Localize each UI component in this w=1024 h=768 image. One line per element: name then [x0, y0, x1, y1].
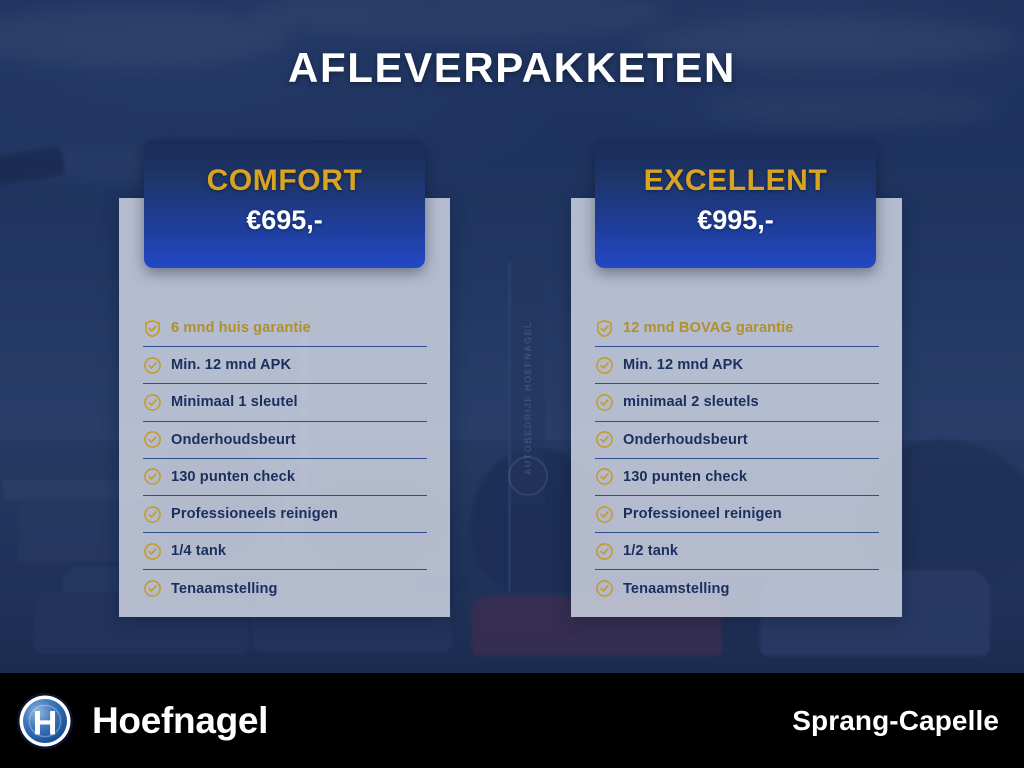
circle-check-icon: [595, 393, 614, 412]
footer-bar: H Hoefnagel Sprang-Capelle: [0, 673, 1024, 768]
brand-lockup: H Hoefnagel: [16, 692, 268, 750]
circle-check-icon: [143, 579, 162, 598]
feature-label: 1/4 tank: [171, 543, 226, 559]
feature-label: Onderhoudsbeurt: [623, 432, 748, 448]
circle-check-icon: [595, 505, 614, 524]
feature-row: 12 mnd BOVAG garantie: [595, 310, 879, 347]
package-header-excellent: EXCELLENT €995,-: [595, 140, 876, 268]
feature-row: Professioneel reinigen: [595, 496, 879, 533]
feature-label: Tenaamstelling: [171, 581, 278, 597]
feature-list-excellent: 12 mnd BOVAG garantie Min. 12 mnd APK mi…: [595, 310, 879, 608]
circle-check-icon: [143, 356, 162, 375]
feature-row: Professioneels reinigen: [143, 496, 427, 533]
circle-check-icon: [143, 542, 162, 561]
feature-label: 130 punten check: [623, 469, 747, 485]
feature-row: Onderhoudsbeurt: [143, 422, 427, 459]
circle-check-icon: [143, 505, 162, 524]
feature-label: minimaal 2 sleutels: [623, 394, 759, 410]
slide-root: AUTOBEDRIJF HOEFNAGEL AUTOBEDRIJF HOEFNA…: [0, 0, 1024, 768]
circle-check-icon: [595, 430, 614, 449]
feature-row: Minimaal 1 sleutel: [143, 384, 427, 421]
feature-row: 130 punten check: [595, 459, 879, 496]
feature-row: minimaal 2 sleutels: [595, 384, 879, 421]
circle-check-icon: [595, 467, 614, 486]
feature-list-comfort: 6 mnd huis garantie Min. 12 mnd APK Mini…: [143, 310, 427, 608]
circle-check-icon: [595, 542, 614, 561]
feature-label: 12 mnd BOVAG garantie: [623, 320, 794, 336]
feature-row: Min. 12 mnd APK: [143, 347, 427, 384]
shield-check-icon: [143, 319, 162, 338]
package-name: COMFORT: [144, 164, 425, 198]
logo-letter: H: [33, 704, 58, 742]
location-label: Sprang-Capelle: [792, 705, 999, 737]
feature-row: 6 mnd huis garantie: [143, 310, 427, 347]
package-price: €995,-: [595, 205, 876, 236]
feature-label: Professioneel reinigen: [623, 506, 782, 522]
feature-label: Tenaamstelling: [623, 581, 730, 597]
feature-row: 130 punten check: [143, 459, 427, 496]
feature-label: Min. 12 mnd APK: [623, 357, 743, 373]
package-header-comfort: COMFORT €695,-: [144, 140, 425, 268]
circle-check-icon: [143, 430, 162, 449]
package-price: €695,-: [144, 205, 425, 236]
circle-check-icon: [595, 356, 614, 375]
feature-label: 1/2 tank: [623, 543, 678, 559]
circle-check-icon: [143, 467, 162, 486]
hoefnagel-h-logo-icon: H: [16, 692, 74, 750]
feature-row: Onderhoudsbeurt: [595, 422, 879, 459]
circle-check-icon: [143, 393, 162, 412]
feature-row: 1/2 tank: [595, 533, 879, 570]
circle-check-icon: [595, 579, 614, 598]
page-title: AFLEVERPAKKETEN: [0, 44, 1024, 92]
feature-label: Min. 12 mnd APK: [171, 357, 291, 373]
shield-check-icon: [595, 319, 614, 338]
feature-row: Tenaamstelling: [595, 570, 879, 607]
feature-label: Minimaal 1 sleutel: [171, 394, 298, 410]
feature-label: 6 mnd huis garantie: [171, 320, 311, 336]
package-name: EXCELLENT: [595, 164, 876, 198]
feature-label: Onderhoudsbeurt: [171, 432, 296, 448]
feature-label: 130 punten check: [171, 469, 295, 485]
brand-name: Hoefnagel: [92, 700, 268, 742]
feature-row: 1/4 tank: [143, 533, 427, 570]
feature-label: Professioneels reinigen: [171, 506, 338, 522]
feature-row: Min. 12 mnd APK: [595, 347, 879, 384]
feature-row: Tenaamstelling: [143, 570, 427, 607]
logo-svg: H: [16, 692, 74, 750]
